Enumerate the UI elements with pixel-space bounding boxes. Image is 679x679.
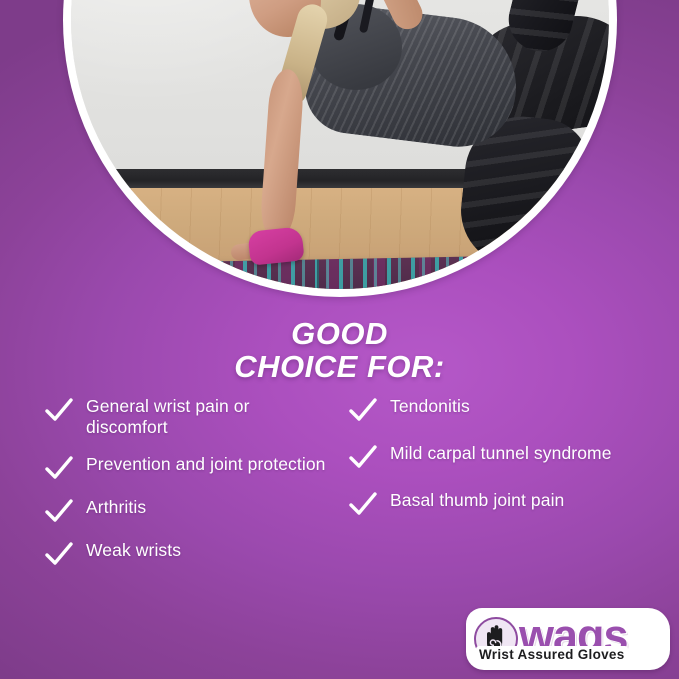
list-item: Basal thumb joint pain (348, 490, 644, 516)
yoga-figure (71, 0, 609, 289)
list-item: Prevention and joint protection (44, 454, 340, 480)
yoga-pose-photo (71, 0, 609, 289)
list-item: Weak wrists (44, 540, 340, 566)
headline-line-2: CHOICE FOR: (0, 350, 679, 383)
photo-ring (63, 0, 617, 297)
list-item: General wrist pain or discomfort (44, 396, 340, 437)
list-item: Mild carpal tunnel syndrome (348, 443, 644, 469)
benefits-column-right: Tendonitis Mild carpal tunnel syndrome B… (348, 396, 644, 583)
list-item-label: Arthritis (86, 497, 146, 518)
benefits-column-left: General wrist pain or discomfort Prevent… (44, 396, 340, 583)
list-item-label: Mild carpal tunnel syndrome (390, 443, 612, 464)
photo-scene (71, 0, 609, 289)
check-icon (348, 492, 378, 518)
kneeling-leg-shin (534, 208, 609, 283)
brand-logo: wags Wrist Assured Gloves (466, 608, 670, 670)
logo-inner: wags Wrist Assured Gloves (472, 613, 664, 664)
list-item: Arthritis (44, 497, 340, 523)
check-icon (348, 398, 378, 424)
check-icon (44, 542, 74, 568)
wrist-glove (247, 226, 304, 265)
list-item-label: General wrist pain or discomfort (86, 396, 336, 437)
page-title: GOOD CHOICE FOR: (0, 317, 679, 384)
product-info-poster: GOOD CHOICE FOR: General wrist pain or d… (0, 0, 679, 679)
list-item: Tendonitis (348, 396, 644, 422)
headline-line-1: GOOD (0, 317, 679, 350)
check-icon (44, 398, 74, 424)
check-icon (44, 499, 74, 525)
check-icon (348, 445, 378, 471)
list-item-label: Tendonitis (390, 396, 470, 417)
logo-tagline: Wrist Assured Gloves (476, 646, 628, 663)
list-item-label: Weak wrists (86, 540, 181, 561)
benefits-lists: General wrist pain or discomfort Prevent… (44, 396, 644, 583)
check-icon (44, 456, 74, 482)
list-item-label: Basal thumb joint pain (390, 490, 564, 511)
list-item-label: Prevention and joint protection (86, 454, 326, 475)
supporting-arm (259, 68, 305, 242)
